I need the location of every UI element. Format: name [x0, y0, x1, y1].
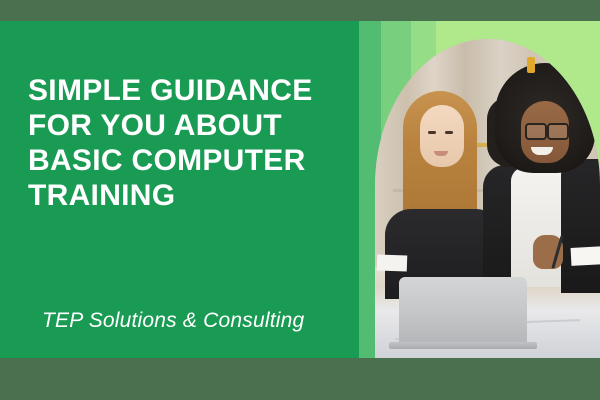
laptop-lid: [399, 277, 527, 345]
slide-subtitle: TEP Solutions & Consulting: [42, 309, 304, 333]
slide-headline: Simple Guidance For You About Basic Comp…: [28, 73, 328, 213]
person-left-eye-left: [428, 131, 436, 134]
slide-frame-bottom-band: [0, 358, 600, 400]
paper-sheet-right: [571, 246, 600, 266]
person-right-hair-clip-icon: [527, 57, 535, 73]
slide-frame-top-band: [0, 0, 600, 21]
presentation-slide: Simple Guidance For You About Basic Comp…: [0, 0, 600, 400]
text-column: Simple Guidance For You About Basic Comp…: [0, 21, 345, 358]
person-right-eyeglass-left: [525, 123, 547, 140]
media-panel: [345, 21, 600, 358]
person-right-blazer-right: [561, 159, 600, 293]
photo-arch-mask: [375, 39, 600, 358]
paper-sheet-left: [377, 254, 408, 271]
stripe-1: [345, 21, 359, 358]
slide-canvas: Simple Guidance For You About Basic Comp…: [0, 21, 600, 358]
person-right-eyeglass-right: [547, 123, 569, 140]
laptop-base: [389, 342, 537, 349]
person-left-eye-right: [445, 131, 453, 134]
person-left-face: [420, 105, 464, 167]
